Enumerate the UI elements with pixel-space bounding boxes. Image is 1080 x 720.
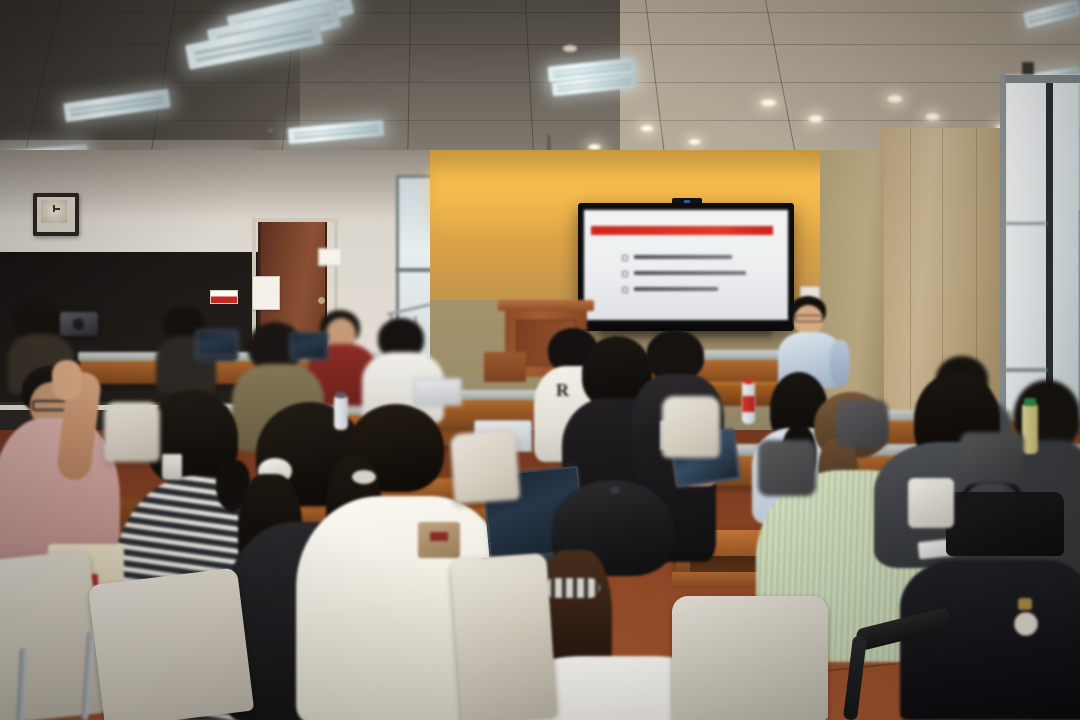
wall-clock — [33, 193, 79, 236]
sprinkler-head — [268, 128, 273, 133]
slide-bullet-icon — [622, 287, 628, 293]
patch-logo-icon — [430, 532, 448, 541]
clock-face — [41, 200, 67, 223]
water-bottle[interactable] — [334, 396, 348, 430]
slide-text-line — [634, 271, 746, 275]
office-chair[interactable] — [960, 432, 1024, 484]
stacking-chair[interactable] — [88, 567, 254, 720]
slide-bullet-icon — [622, 271, 628, 277]
glasses-icon — [795, 315, 823, 322]
stacking-chair[interactable] — [450, 553, 557, 720]
shirt-letter-graphic: R — [556, 380, 570, 400]
white-notice-paper — [252, 276, 280, 310]
smoke-detector-icon — [563, 45, 577, 52]
beaded-hair-tie — [544, 578, 600, 598]
door-knob[interactable] — [318, 297, 325, 304]
stacking-chair[interactable] — [662, 396, 720, 458]
ceiling-mount-bracket — [1022, 62, 1034, 76]
red-white-wall-sign — [210, 290, 238, 304]
hair-tie — [352, 470, 376, 484]
slide-bullet-icon — [622, 255, 628, 261]
window-header — [1005, 75, 1080, 83]
bottle-label — [742, 396, 755, 412]
lectern-side — [484, 352, 526, 382]
paper-bag — [908, 478, 954, 528]
recessed-downlight — [688, 139, 701, 145]
laptop[interactable] — [414, 378, 462, 406]
lecture-hall-photo: R — [0, 0, 1080, 720]
office-chair[interactable] — [836, 400, 888, 448]
laptop-keyboard[interactable] — [194, 354, 236, 361]
bag-charm — [1014, 612, 1038, 636]
window-crossbar — [1005, 368, 1047, 372]
laptop[interactable] — [290, 332, 328, 360]
recessed-downlight — [887, 95, 903, 103]
recessed-downlight — [760, 99, 777, 107]
paper-cup[interactable] — [162, 454, 182, 480]
slide-text-line — [634, 255, 732, 259]
office-chair[interactable] — [672, 596, 828, 720]
recessed-downlight — [640, 125, 654, 132]
charm-clip-icon — [1018, 598, 1032, 610]
window-crossbar — [1005, 222, 1047, 225]
slide-text-line — [634, 287, 718, 291]
recessed-downlight — [808, 115, 823, 123]
bottle-cap — [744, 378, 753, 384]
lectern-top — [498, 300, 594, 311]
camera-lens-icon — [72, 318, 85, 331]
office-chair[interactable] — [758, 440, 816, 496]
white-notice-paper — [318, 248, 342, 266]
cap-button-icon — [610, 486, 620, 494]
slide-accent-bar — [591, 226, 773, 235]
bottle-cap — [336, 392, 346, 398]
display-screen[interactable] — [584, 210, 788, 320]
stacking-chair[interactable] — [450, 430, 521, 504]
recessed-downlight — [925, 113, 940, 121]
stacking-chair[interactable] — [104, 402, 160, 462]
water-bottle[interactable] — [1022, 404, 1038, 454]
bottle-cap — [1024, 398, 1036, 406]
